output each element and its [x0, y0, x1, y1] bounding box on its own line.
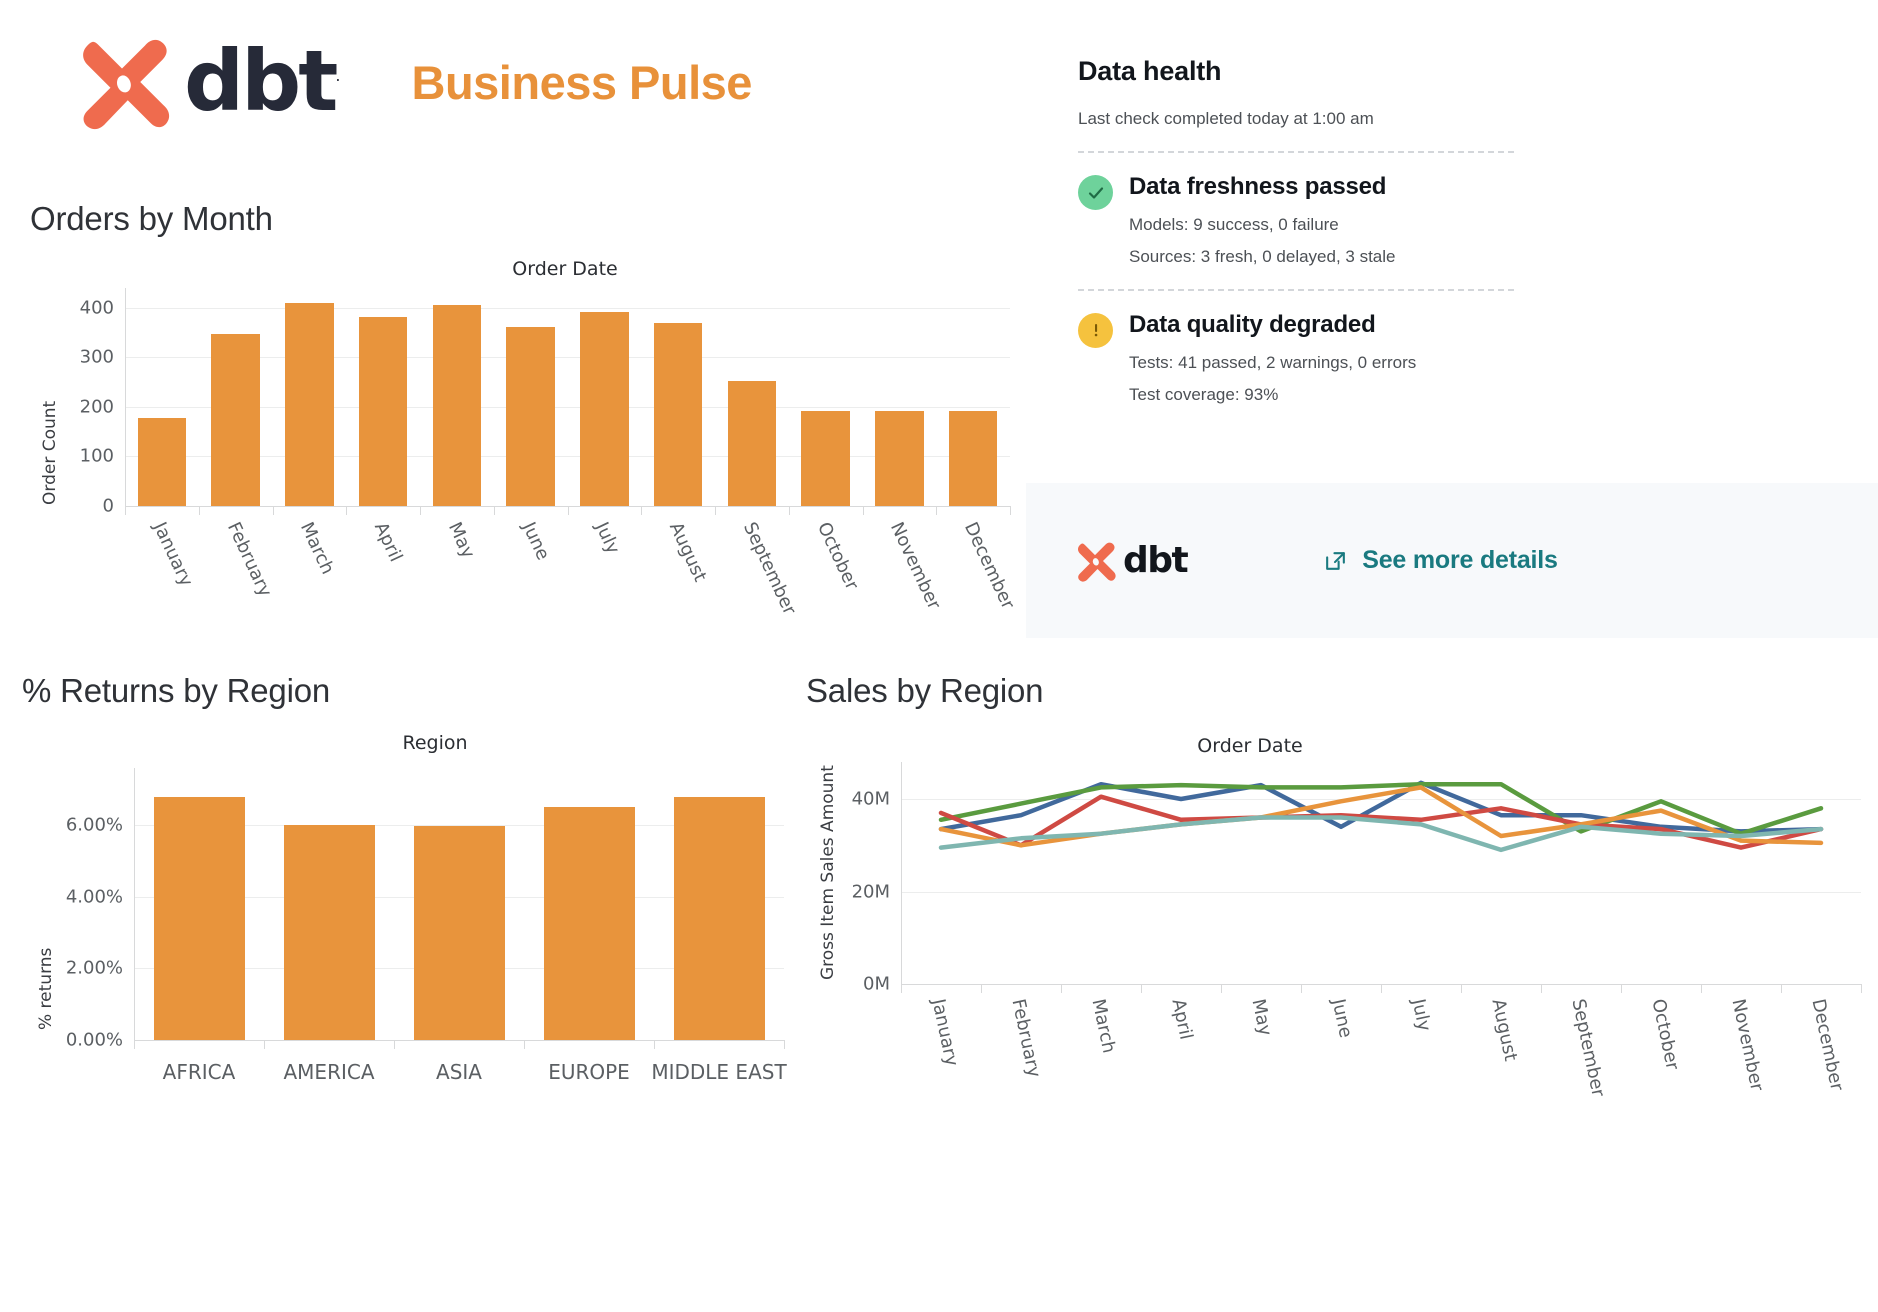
bar[interactable] [154, 797, 245, 1040]
data-health-subtitle: Last check completed today at 1:00 am [1078, 109, 1514, 129]
x-axis-tick-label: June [1327, 997, 1356, 1040]
cta-brand-logo: dbt [1074, 540, 1187, 582]
health-row-quality[interactable]: Data quality degraded Tests: 41 passed, … [1078, 311, 1514, 405]
x-axis-tick [264, 1040, 265, 1049]
bar[interactable] [674, 797, 765, 1040]
x-axis-tick-label: AFRICA [163, 1060, 236, 1084]
bar[interactable] [211, 334, 260, 506]
y-axis-tick-label: 200 [80, 396, 114, 417]
check-circle-icon [1078, 175, 1113, 210]
orders-chart-title: Orders by Month [30, 200, 273, 238]
y-axis-tick-label: 40M [852, 789, 890, 810]
x-axis-tick [1781, 984, 1782, 993]
x-axis-tick [1861, 984, 1862, 993]
bar[interactable] [506, 327, 555, 506]
x-axis-tick-label: May [1247, 997, 1275, 1038]
x-axis-tick [273, 506, 274, 515]
x-axis-tick-label: April [370, 519, 406, 565]
x-axis-tick-label: October [1647, 997, 1683, 1072]
x-axis-tick-label: February [223, 519, 276, 600]
x-axis-tick-label: September [1567, 997, 1608, 1099]
x-axis-tick [134, 1040, 135, 1049]
x-axis-tick [981, 984, 982, 993]
x-axis-tick-label: April [1167, 997, 1196, 1042]
x-axis-tick [1701, 984, 1702, 993]
brand-trademark: . [335, 66, 337, 85]
x-axis-tick-label: August [665, 519, 711, 585]
x-axis-tick-label: November [886, 519, 945, 613]
sales-chart-title: Sales by Region [806, 672, 1043, 710]
x-axis-tick [420, 506, 421, 515]
x-axis-tick-label: July [591, 519, 624, 557]
brand-wordmark: dbt. [184, 44, 338, 120]
bar[interactable] [801, 411, 850, 506]
orders-chart-caption: Order Date [455, 258, 675, 280]
bar[interactable] [580, 312, 629, 506]
x-axis-tick [1141, 984, 1142, 993]
bar[interactable] [359, 317, 408, 506]
y-axis-tick-label: 300 [80, 347, 114, 368]
x-axis-tick [125, 506, 126, 515]
x-axis-tick [1301, 984, 1302, 993]
health-row-title: Data freshness passed [1129, 173, 1514, 202]
dbt-x-logo-icon [1074, 540, 1116, 582]
y-axis-line [134, 768, 135, 1040]
x-axis-tick [568, 506, 569, 515]
x-axis-tick [1541, 984, 1542, 993]
page-title: Business Pulse [412, 55, 752, 110]
divider-2 [1078, 289, 1514, 291]
x-axis-tick-label: August [1487, 997, 1521, 1063]
health-row-detail: Test coverage: 93% [1129, 385, 1514, 405]
y-axis-tick-label: 20M [852, 881, 890, 902]
bar[interactable] [285, 303, 334, 506]
x-axis-tick [936, 506, 937, 515]
x-axis-tick [784, 1040, 785, 1049]
x-axis-tick-label: January [927, 997, 962, 1068]
dbt-x-logo-icon [74, 34, 170, 130]
x-axis-tick [1061, 984, 1062, 993]
returns-chart-caption: Region [345, 732, 525, 754]
x-axis-tick [346, 506, 347, 515]
bar[interactable] [138, 418, 187, 506]
x-axis-tick [641, 506, 642, 515]
data-health-panel: Data health Last check completed today a… [1078, 56, 1514, 405]
x-axis-tick [1010, 506, 1011, 515]
x-axis-tick [1221, 984, 1222, 993]
x-axis-tick-label: March [296, 519, 338, 578]
warning-circle-icon [1078, 313, 1113, 348]
x-axis-tick-label: February [1007, 997, 1044, 1079]
x-axis-tick [715, 506, 716, 515]
y-axis-line [125, 288, 126, 506]
bar[interactable] [433, 305, 482, 506]
external-link-icon [1323, 548, 1348, 573]
x-axis-tick-label: October [813, 519, 862, 593]
x-axis-tick-label: June [518, 519, 554, 563]
x-axis-tick-label: May [444, 519, 479, 562]
dashboard-root: dbt. Business Pulse Orders by Month % Re… [0, 0, 1878, 1312]
bar[interactable] [414, 826, 505, 1040]
x-axis-tick-label: December [960, 519, 1018, 612]
bar[interactable] [654, 323, 703, 506]
x-axis-tick [1461, 984, 1462, 993]
sales-chart-caption: Order Date [1140, 735, 1360, 757]
x-axis-tick-label: July [1407, 997, 1434, 1033]
health-row-title: Data quality degraded [1129, 311, 1514, 340]
y-axis-tick-label: 400 [80, 297, 114, 318]
orders-plot-area: 0100200300400JanuaryFebruaryMarchAprilMa… [125, 288, 1010, 506]
bar[interactable] [728, 381, 777, 506]
x-axis-tick-label: MIDDLE EAST [651, 1060, 786, 1084]
exclamation-glyph [1086, 320, 1106, 340]
x-axis-tick [1621, 984, 1622, 993]
x-axis-tick [494, 506, 495, 515]
orders-y-axis-title: Order Count [40, 345, 60, 505]
health-row-detail: Models: 9 success, 0 failure [1129, 215, 1514, 235]
x-axis-tick-label: January [149, 519, 197, 590]
x-axis-line [134, 1040, 784, 1041]
data-health-title: Data health [1078, 56, 1514, 87]
bar[interactable] [949, 411, 998, 506]
y-axis-tick-label: 0.00% [66, 1030, 123, 1051]
returns-plot-area: 0.00%2.00%4.00%6.00%AFRICAAMERICAASIAEUR… [134, 768, 784, 1040]
x-axis-tick-label: March [1087, 997, 1119, 1055]
x-axis-tick [901, 984, 902, 993]
x-axis-tick-label: November [1727, 997, 1767, 1093]
see-more-details-label: See more details [1362, 546, 1558, 575]
line-series-group [901, 762, 1861, 984]
x-axis-tick [1381, 984, 1382, 993]
check-glyph [1086, 183, 1106, 203]
bar[interactable] [284, 825, 375, 1040]
y-axis-tick-label: 4.00% [66, 886, 123, 907]
health-row-detail: Tests: 41 passed, 2 warnings, 0 errors [1129, 353, 1514, 373]
brand-logo: dbt. [74, 34, 338, 130]
x-axis-tick-label: AMERICA [283, 1060, 374, 1084]
see-more-details-link[interactable]: See more details [1323, 546, 1558, 575]
x-axis-tick [863, 506, 864, 515]
x-axis-tick [654, 1040, 655, 1049]
dashboard-header: dbt. Business Pulse [74, 34, 752, 130]
bar[interactable] [544, 807, 635, 1040]
health-row-body: Data freshness passed Models: 9 success,… [1129, 173, 1514, 267]
x-axis-tick [394, 1040, 395, 1049]
y-axis-tick-label: 2.00% [66, 958, 123, 979]
y-axis-tick-label: 100 [80, 446, 114, 467]
x-axis-tick-label: December [1807, 997, 1847, 1093]
brand-word-text: dbt [184, 32, 335, 130]
x-axis-tick-label: EUROPE [548, 1060, 630, 1084]
line-series-series-blue[interactable] [941, 783, 1821, 832]
returns-chart-title: % Returns by Region [22, 672, 330, 710]
cta-brand-word: dbt [1123, 540, 1187, 581]
health-row-body: Data quality degraded Tests: 41 passed, … [1129, 311, 1514, 405]
y-axis-tick-label: 0M [863, 974, 890, 995]
divider-1 [1078, 151, 1514, 153]
sales-y-axis-title: Gross Item Sales Amount [818, 765, 838, 980]
y-axis-tick-label: 6.00% [66, 815, 123, 836]
returns-y-axis-title: % returns [36, 900, 56, 1030]
x-axis-tick-label: ASIA [436, 1060, 482, 1084]
sales-plot-area: 0M20M40MJanuaryFebruaryMarchAprilMayJune… [901, 762, 1861, 984]
x-axis-tick [524, 1040, 525, 1049]
gridline [125, 308, 1010, 309]
bar[interactable] [875, 411, 924, 506]
x-axis-tick-label: September [739, 519, 800, 618]
health-row-freshness[interactable]: Data freshness passed Models: 9 success,… [1078, 173, 1514, 267]
health-row-detail: Sources: 3 fresh, 0 delayed, 3 stale [1129, 247, 1514, 267]
y-axis-tick-label: 0 [103, 496, 114, 517]
x-axis-tick [199, 506, 200, 515]
x-axis-tick [789, 506, 790, 515]
see-more-details-panel: dbt See more details [1026, 483, 1878, 638]
